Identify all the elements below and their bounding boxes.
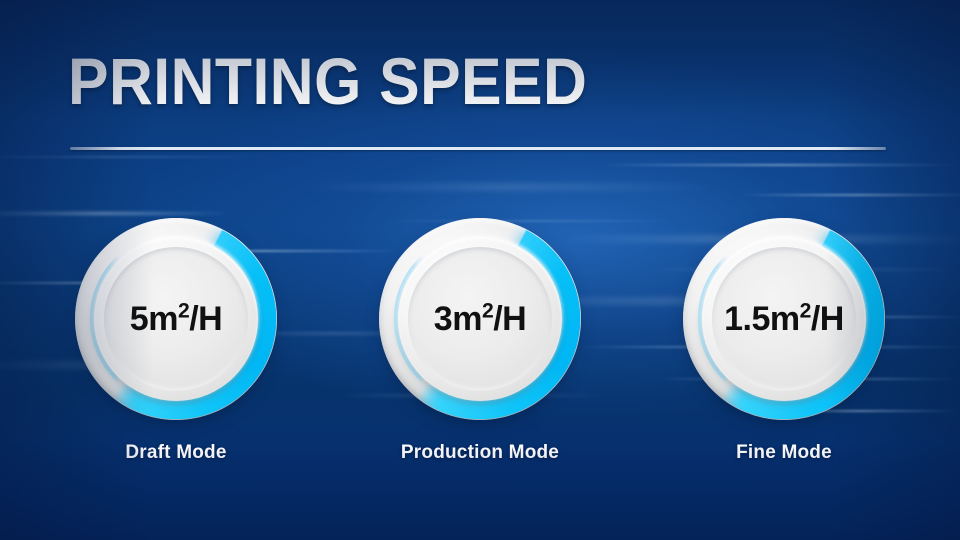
title-divider xyxy=(70,147,886,150)
dial-face: 3m2/H xyxy=(408,247,552,391)
gauge-value: 5m2/H xyxy=(130,300,222,339)
gauge-value-number: 3 xyxy=(434,300,452,338)
dial-face: 1.5m2/H xyxy=(712,247,856,391)
gauge-draft-mode[interactable]: 5m2/H Draft Mode xyxy=(75,218,277,464)
gauge-label: Draft Mode xyxy=(125,442,226,464)
gauge-value: 3m2/H xyxy=(434,300,526,339)
gauge-value-number: 1.5 xyxy=(724,300,770,338)
gauge-value-number: 5 xyxy=(130,300,148,338)
gauge-value-suffix: /H xyxy=(493,300,526,338)
gauge-fine-mode[interactable]: 1.5m2/H Fine Mode xyxy=(683,218,885,464)
gauge-value-exponent: 2 xyxy=(482,299,493,322)
gauge-value-unit: m xyxy=(452,300,482,338)
gauge-production-mode[interactable]: 3m2/H Production Mode xyxy=(379,218,581,464)
gauge-dial: 5m2/H xyxy=(75,218,277,420)
gauge-value-exponent: 2 xyxy=(800,299,811,322)
gauge-row: 5m2/H Draft Mode 3m2/H Production Mode xyxy=(0,218,960,464)
gauge-label: Production Mode xyxy=(401,442,559,464)
gauge-value-suffix: /H xyxy=(811,300,844,338)
gauge-dial: 3m2/H xyxy=(379,218,581,420)
gauge-value: 1.5m2/H xyxy=(724,300,844,339)
gauge-value-exponent: 2 xyxy=(178,299,189,322)
page-title: PRINTING SPEED xyxy=(68,46,587,116)
gauge-value-suffix: /H xyxy=(189,300,222,338)
gauge-dial: 1.5m2/H xyxy=(683,218,885,420)
dial-face: 5m2/H xyxy=(104,247,248,391)
gauge-value-unit: m xyxy=(770,300,800,338)
slide-canvas: PRINTING SPEED 5m2/H Draft Mode xyxy=(0,0,960,540)
gauge-label: Fine Mode xyxy=(736,442,832,464)
gauge-value-unit: m xyxy=(148,300,178,338)
